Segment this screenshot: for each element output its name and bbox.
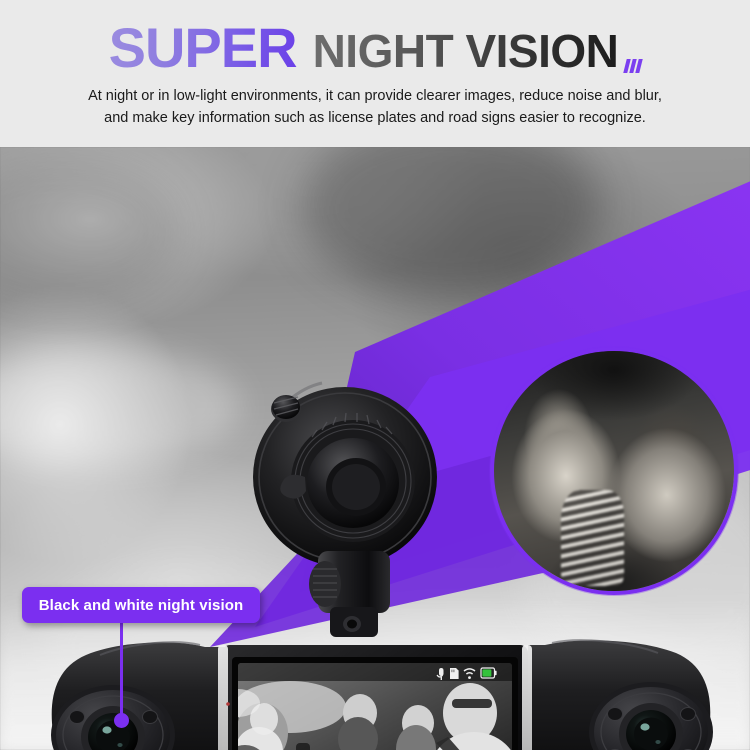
dashcam-screen-unit [216,645,532,750]
slashes-accent-icon [625,59,641,73]
dual-lens-dashcam-device [0,147,750,750]
subtitle: At night or in low-light environments, i… [30,86,720,130]
header-band: SUPER NIGHT VISION At night or in low-li… [0,0,750,147]
recording-indicator-led [226,702,230,706]
callout-badge-left[interactable]: Black and white night vision [22,587,260,623]
subtitle-line-1: At night or in low-light environments, i… [30,86,720,108]
subtitle-line-2: and make key information such as license… [30,108,720,130]
headline-primary: SUPER [109,20,297,76]
sd-card-icon [450,668,459,679]
suction-cup-mount [253,383,437,567]
night-vision-product-banner: SUPER NIGHT VISION At night or in low-li… [0,0,750,750]
screen-image-family-in-car [216,663,518,750]
product-photo-stage: Black and white night vision Black and w… [0,147,750,750]
battery-icon [481,668,497,678]
callout-leader-line-left [120,623,123,720]
page-title: SUPER NIGHT VISION [109,20,642,76]
headline-secondary: NIGHT VISION [313,28,619,74]
mount-hinge-arm [309,551,390,637]
callout-anchor-dot-left [114,713,129,728]
callout-label-left: Black and white night vision [39,597,244,614]
